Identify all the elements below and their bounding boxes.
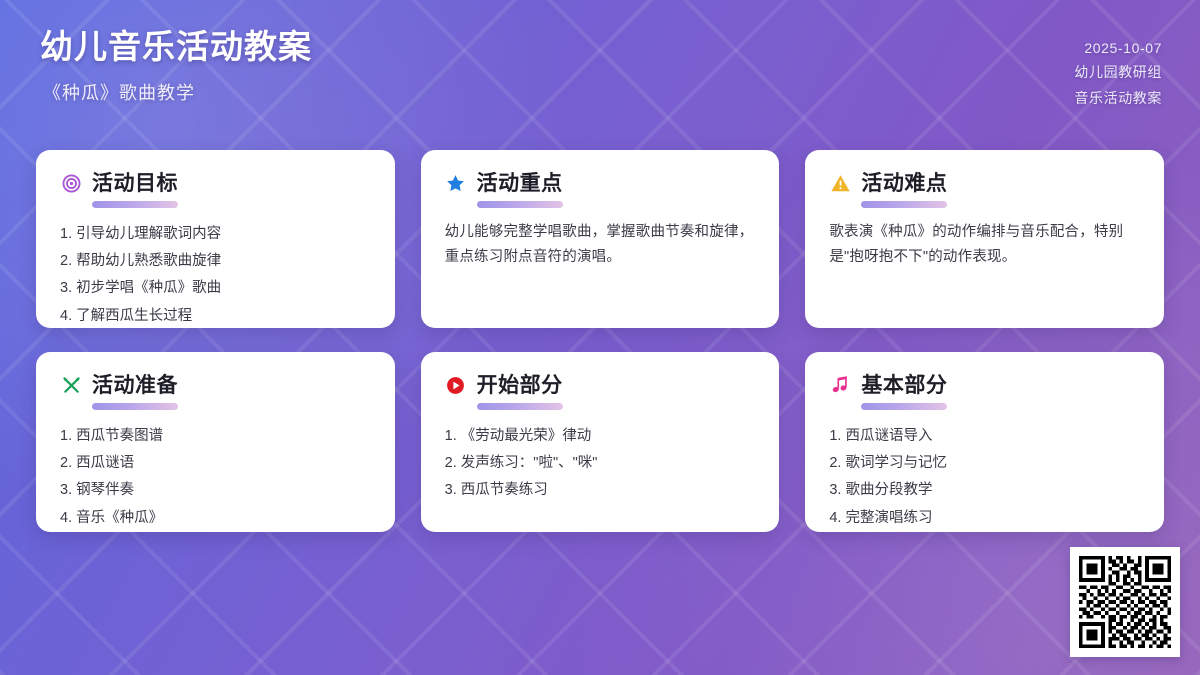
card-活动目标: 活动目标引导幼儿理解歌词内容帮助幼儿熟悉歌曲旋律初步学唱《种瓜》歌曲了解西瓜生长… [36, 150, 395, 328]
card-header: 活动重点 [445, 172, 756, 194]
page-subtitle: 《种瓜》歌曲教学 [40, 79, 312, 105]
card-grid: 活动目标引导幼儿理解歌词内容帮助幼儿熟悉歌曲旋律初步学唱《种瓜》歌曲了解西瓜生长… [36, 150, 1164, 532]
list-item: 歌词学习与记忆 [829, 449, 1140, 476]
meta-author: 幼儿园教研组 [1074, 62, 1162, 82]
card-title: 活动目标 [92, 173, 178, 194]
qr-code-image [1079, 556, 1171, 648]
list-item: 《劳动最光荣》律动 [445, 422, 756, 449]
card-title-underline [92, 201, 178, 208]
card-body: 西瓜节奏图谱西瓜谜语钢琴伴奏音乐《种瓜》 [60, 422, 371, 532]
card-活动准备: 活动准备西瓜节奏图谱西瓜谜语钢琴伴奏音乐《种瓜》 [36, 352, 395, 532]
card-list: 《劳动最光荣》律动发声练习："啦"、"咪"西瓜节奏练习 [445, 422, 756, 504]
card-开始部分: 开始部分《劳动最光荣》律动发声练习："啦"、"咪"西瓜节奏练习 [421, 352, 780, 532]
music-note-icon [829, 374, 851, 396]
page-title: 幼儿音乐活动教案 [40, 26, 312, 67]
list-item: 西瓜谜语 [60, 449, 371, 476]
card-title-underline [477, 403, 563, 410]
list-item: 西瓜节奏图谱 [60, 422, 371, 449]
card-body: 引导幼儿理解歌词内容帮助幼儿熟悉歌曲旋律初步学唱《种瓜》歌曲了解西瓜生长过程 [60, 220, 371, 328]
list-item: 初步学唱《种瓜》歌曲 [60, 275, 371, 302]
list-item: 帮助幼儿熟悉歌曲旋律 [60, 247, 371, 274]
list-item: 西瓜谜语导入 [829, 422, 1140, 449]
card-header: 活动难点 [829, 172, 1140, 194]
warning-triangle-icon [829, 172, 851, 194]
header-meta: 2025-10-07 幼儿园教研组 音乐活动教案 [1074, 26, 1162, 108]
card-title: 开始部分 [477, 375, 563, 396]
qr-code[interactable] [1070, 547, 1180, 657]
card-title-underline [861, 201, 947, 208]
card-活动重点: 活动重点幼儿能够完整学唱歌曲，掌握歌曲节奏和旋律，重点练习附点音符的演唱。 [421, 150, 780, 328]
list-item: 歌曲分段教学 [829, 477, 1140, 504]
card-header: 活动准备 [60, 374, 371, 396]
card-body: 幼儿能够完整学唱歌曲，掌握歌曲节奏和旋律，重点练习附点音符的演唱。 [445, 220, 756, 271]
list-item: 西瓜节奏练习 [445, 477, 756, 504]
card-title: 活动准备 [92, 375, 178, 396]
card-body: 《劳动最光荣》律动发声练习："啦"、"咪"西瓜节奏练习 [445, 422, 756, 504]
list-item: 钢琴伴奏 [60, 477, 371, 504]
card-活动难点: 活动难点歌表演《种瓜》的动作编排与音乐配合，特别是"抱呀抱不下"的动作表现。 [805, 150, 1164, 328]
star-icon [445, 172, 467, 194]
card-title-underline [861, 403, 947, 410]
card-header: 基本部分 [829, 374, 1140, 396]
card-paragraph: 幼儿能够完整学唱歌曲，掌握歌曲节奏和旋律，重点练习附点音符的演唱。 [445, 220, 756, 271]
meta-date: 2025-10-07 [1074, 40, 1162, 56]
card-list: 西瓜谜语导入歌词学习与记忆歌曲分段教学完整演唱练习 [829, 422, 1140, 532]
card-title: 基本部分 [861, 375, 947, 396]
card-list: 西瓜节奏图谱西瓜谜语钢琴伴奏音乐《种瓜》 [60, 422, 371, 532]
card-title: 活动难点 [861, 173, 947, 194]
title-block: 幼儿音乐活动教案 《种瓜》歌曲教学 [38, 26, 312, 105]
card-body: 西瓜谜语导入歌词学习与记忆歌曲分段教学完整演唱练习 [829, 422, 1140, 532]
card-title-underline [477, 201, 563, 208]
list-item: 完整演唱练习 [829, 504, 1140, 531]
list-item: 了解西瓜生长过程 [60, 302, 371, 328]
card-paragraph: 歌表演《种瓜》的动作编排与音乐配合，特别是"抱呀抱不下"的动作表现。 [829, 220, 1140, 271]
card-body: 歌表演《种瓜》的动作编排与音乐配合，特别是"抱呀抱不下"的动作表现。 [829, 220, 1140, 271]
tools-icon [60, 374, 82, 396]
card-title: 活动重点 [477, 173, 563, 194]
list-item: 发声练习："啦"、"咪" [445, 449, 756, 476]
card-title-underline [92, 403, 178, 410]
meta-category: 音乐活动教案 [1074, 88, 1162, 108]
slide-header: 幼儿音乐活动教案 《种瓜》歌曲教学 2025-10-07 幼儿园教研组 音乐活动… [0, 0, 1200, 140]
card-header: 开始部分 [445, 374, 756, 396]
target-icon [60, 172, 82, 194]
card-header: 活动目标 [60, 172, 371, 194]
card-list: 引导幼儿理解歌词内容帮助幼儿熟悉歌曲旋律初步学唱《种瓜》歌曲了解西瓜生长过程 [60, 220, 371, 328]
card-基本部分: 基本部分西瓜谜语导入歌词学习与记忆歌曲分段教学完整演唱练习 [805, 352, 1164, 532]
play-circle-icon [445, 374, 467, 396]
list-item: 音乐《种瓜》 [60, 504, 371, 531]
list-item: 引导幼儿理解歌词内容 [60, 220, 371, 247]
